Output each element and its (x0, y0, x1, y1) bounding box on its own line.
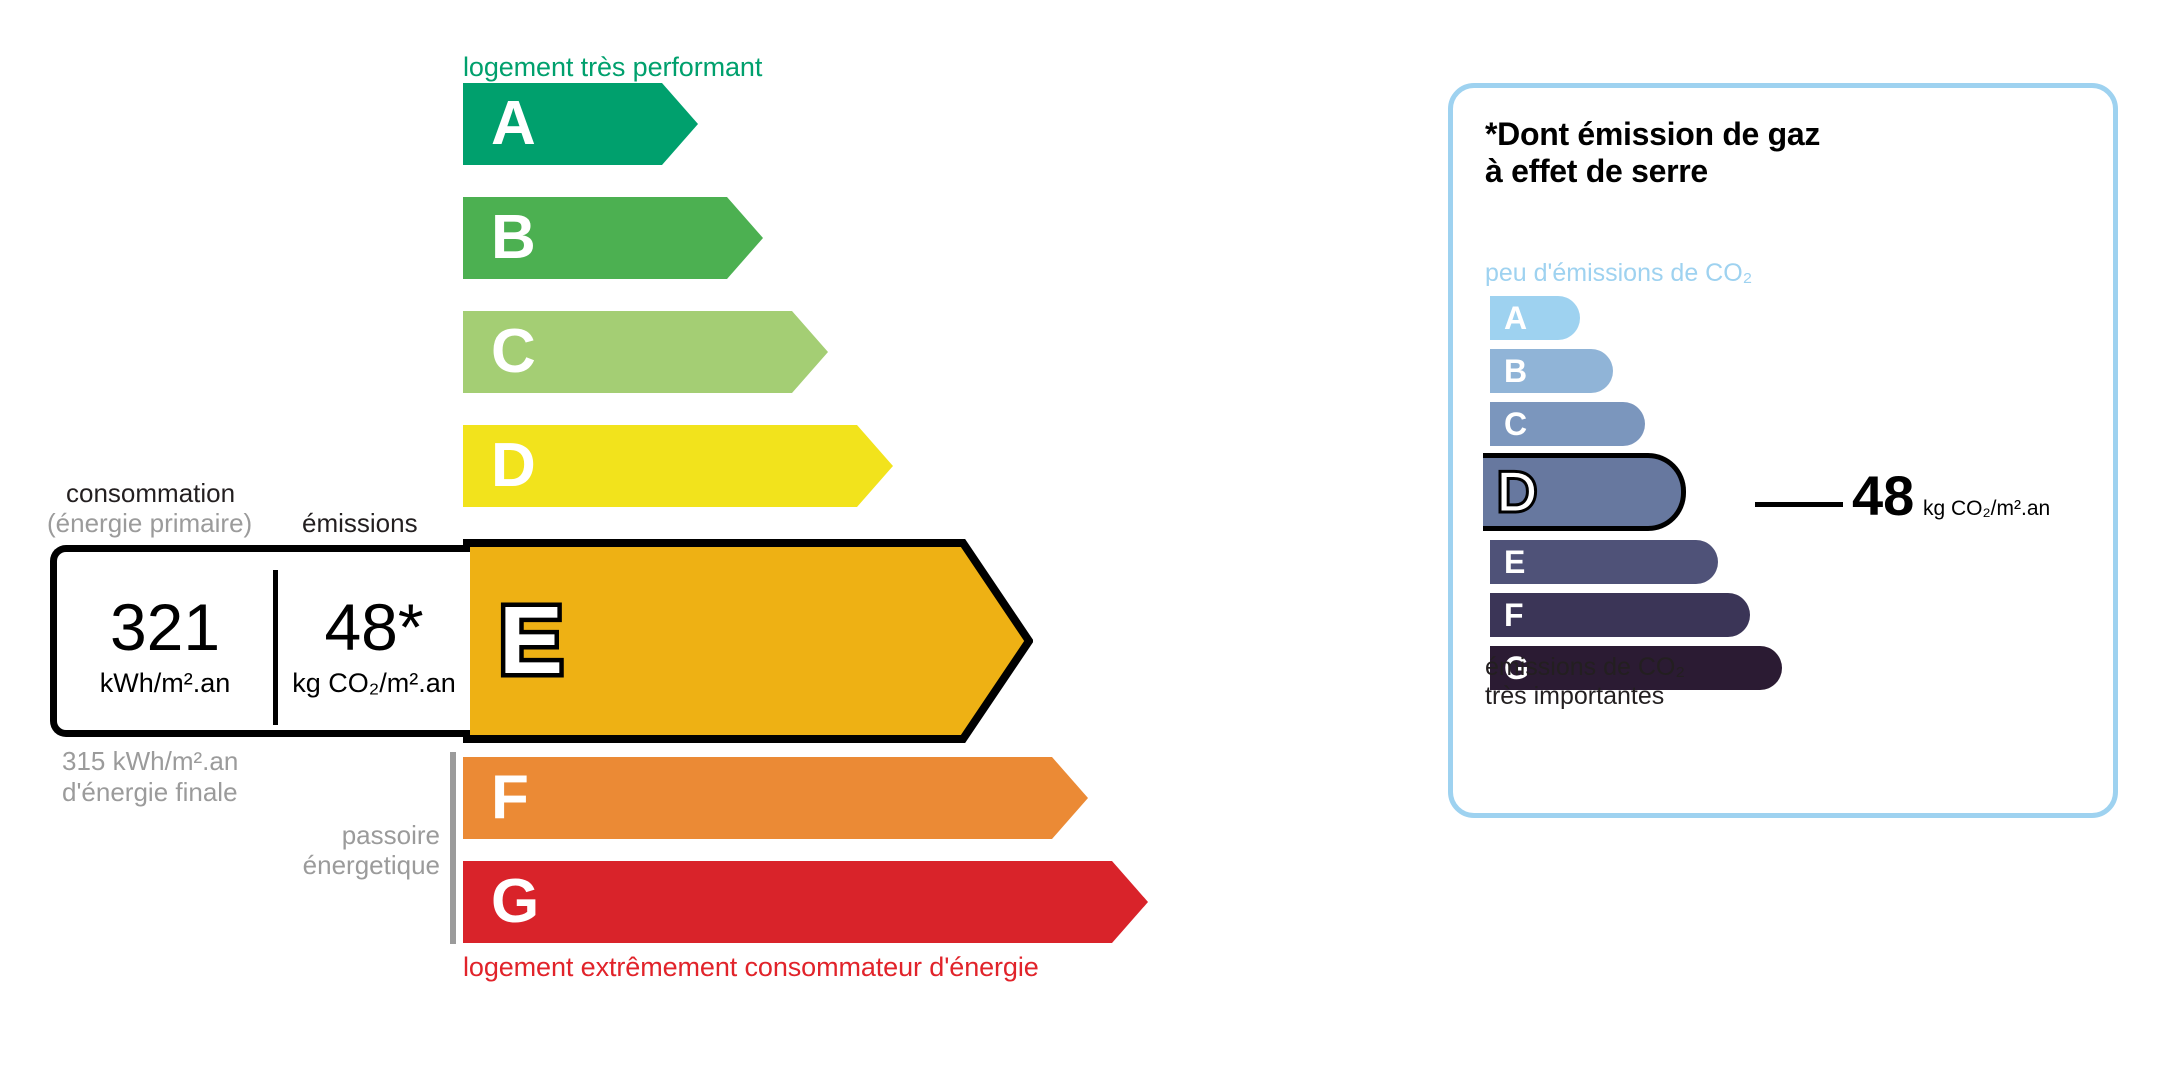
co2-panel-title: *Dont émission de gaz à effet de serre (1485, 116, 1820, 191)
co2-bar-a: A (1490, 296, 1580, 340)
energy-bar-a: A (463, 83, 698, 165)
final-energy-note-line1: 315 kWh/m².an (62, 746, 238, 777)
energy-bar-letter: C (491, 321, 536, 383)
consumption-value-cell: 321 kWh/m².an (57, 552, 273, 730)
co2-bar-shape: C (1490, 402, 1645, 446)
consumption-value: 321 (57, 594, 273, 660)
co2-callout-unit: kg CO₂/m².an (1923, 497, 2050, 521)
dpe-value-box: 321 kWh/m².an 48* kg CO₂/m².an (50, 545, 470, 737)
passoire-energetique-label: passoire énergetique (300, 820, 440, 880)
energy-bar-letter-selected: E (499, 593, 563, 689)
consumption-header-label: consommation (66, 478, 235, 509)
dpe-label: logement très performant A B (0, 0, 2169, 1079)
energy-bar-letter: B (491, 207, 536, 269)
co2-scale-top-caption: peu d'émissions de CO₂ (1485, 259, 1752, 288)
energy-bar-letter: G (491, 871, 539, 933)
arrow-shape-icon (463, 861, 1148, 943)
co2-bar-d-selected: D (1483, 453, 1686, 531)
final-energy-note: 315 kWh/m².an d'énergie finale (62, 746, 238, 807)
energy-bar-letter: F (491, 767, 529, 829)
co2-title-line2: à effet de serre (1485, 153, 1820, 190)
co2-title-line1: *Dont émission de gaz (1485, 116, 1820, 153)
co2-bar-shape: E (1490, 540, 1718, 584)
co2-bar-letter: A (1504, 302, 1527, 334)
energy-performance-section: logement très performant A B (0, 0, 1330, 1079)
energy-scale-top-caption: logement très performant (463, 52, 762, 83)
energy-bar-e-selected: E (463, 539, 1033, 743)
emissions-value: 48* (278, 594, 470, 660)
consumption-unit: kWh/m².an (57, 668, 273, 699)
passoire-label-line2: énergetique (300, 850, 440, 880)
co2-bar-b: B (1490, 349, 1613, 393)
energy-bar-f: F (463, 757, 1088, 839)
co2-emissions-panel: *Dont émission de gaz à effet de serre p… (1448, 83, 2118, 818)
co2-bar-e: E (1490, 540, 1718, 584)
energy-bar-c: C (463, 311, 828, 393)
co2-bar-shape: B (1490, 349, 1613, 393)
energy-bar-b: B (463, 197, 763, 279)
co2-bar-letter-selected: D (1497, 465, 1537, 520)
co2-bar-shape: F (1490, 593, 1750, 637)
energy-bar-d: D (463, 425, 893, 507)
co2-bar-f: F (1490, 593, 1750, 637)
emissions-header-label: émissions (302, 508, 418, 539)
passoire-bracket-rule (450, 752, 456, 944)
co2-bar-letter: C (1504, 408, 1527, 440)
emissions-value-cell: 48* kg CO₂/m².an (278, 552, 470, 730)
consumption-header-sublabel: (énergie primaire) (47, 508, 252, 539)
energy-scale-bottom-caption: logement extrêmement consommateur d'éner… (463, 952, 1039, 983)
energy-bar-letter: D (491, 435, 536, 497)
passoire-label-line1: passoire (300, 820, 440, 850)
co2-callout-value: 48 (1852, 468, 1914, 524)
co2-bottom-caption-line1: émissions de CO₂ (1485, 653, 1685, 682)
co2-bar-letter: F (1504, 599, 1524, 631)
final-energy-note-line2: d'énergie finale (62, 777, 238, 808)
energy-bar-letter: A (491, 93, 536, 155)
co2-bar-letter: E (1504, 546, 1525, 578)
co2-bar-letter: B (1504, 355, 1527, 387)
co2-bar-shape-highlighted: D (1483, 453, 1686, 531)
co2-callout-leader-line (1755, 502, 1843, 507)
energy-bar-g: G (463, 861, 1148, 943)
co2-bar-c: C (1490, 402, 1645, 446)
emissions-unit: kg CO₂/m².an (278, 668, 470, 699)
co2-scale-bottom-caption: émissions de CO₂ très importantes (1485, 653, 1685, 712)
co2-bar-shape: A (1490, 296, 1580, 340)
co2-bottom-caption-line2: très importantes (1485, 682, 1685, 711)
arrow-shape-icon (463, 757, 1088, 839)
